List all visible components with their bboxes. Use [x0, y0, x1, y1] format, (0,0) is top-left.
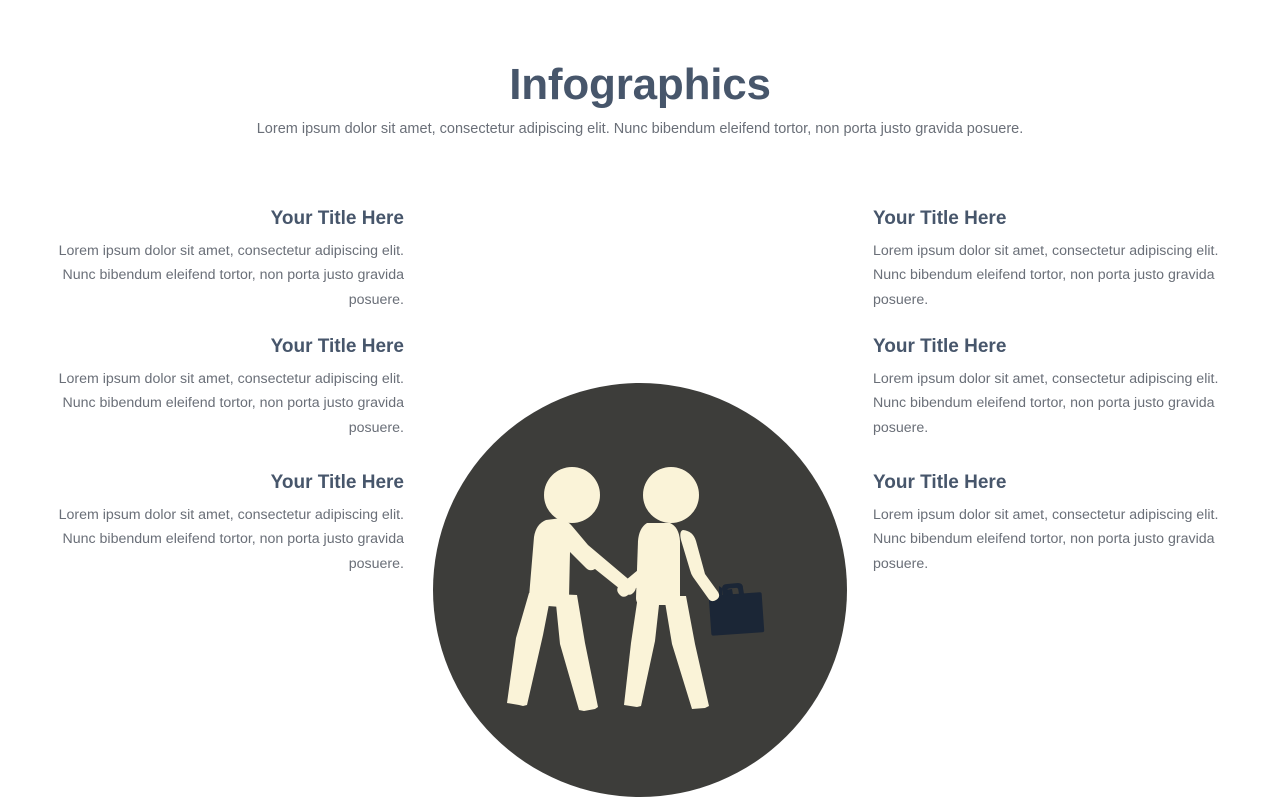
info-block-right-1[interactable]: Your Title Here Lorem ipsum dolor sit am…: [873, 208, 1239, 312]
page-header: Infographics Lorem ipsum dolor sit amet,…: [0, 0, 1280, 139]
page-subtitle: Lorem ipsum dolor sit amet, consectetur …: [0, 108, 1280, 139]
info-block-left-1[interactable]: Your Title Here Lorem ipsum dolor sit am…: [38, 208, 404, 312]
info-block-title: Your Title Here: [38, 336, 404, 359]
page-title: Infographics: [0, 0, 1280, 108]
info-block-title: Your Title Here: [873, 208, 1239, 231]
info-block-title: Your Title Here: [873, 472, 1239, 495]
info-block-body: Lorem ipsum dolor sit amet, consectetur …: [873, 503, 1239, 577]
info-block-body: Lorem ipsum dolor sit amet, consectetur …: [38, 367, 404, 441]
info-block-left-3[interactable]: Your Title Here Lorem ipsum dolor sit am…: [38, 472, 404, 576]
infographic-content: Your Title Here Lorem ipsum dolor sit am…: [0, 190, 1280, 620]
info-block-left-2[interactable]: Your Title Here Lorem ipsum dolor sit am…: [38, 336, 404, 440]
info-block-title: Your Title Here: [38, 472, 404, 495]
info-block-body: Lorem ipsum dolor sit amet, consectetur …: [873, 239, 1239, 313]
info-block-body: Lorem ipsum dolor sit amet, consectetur …: [873, 367, 1239, 441]
info-block-title: Your Title Here: [38, 208, 404, 231]
handshake-deal-icon: [433, 383, 847, 797]
info-block-title: Your Title Here: [873, 336, 1239, 359]
info-block-right-3[interactable]: Your Title Here Lorem ipsum dolor sit am…: [873, 472, 1239, 576]
info-block-right-2[interactable]: Your Title Here Lorem ipsum dolor sit am…: [873, 336, 1239, 440]
info-block-body: Lorem ipsum dolor sit amet, consectetur …: [38, 503, 404, 577]
info-block-body: Lorem ipsum dolor sit amet, consectetur …: [38, 239, 404, 313]
